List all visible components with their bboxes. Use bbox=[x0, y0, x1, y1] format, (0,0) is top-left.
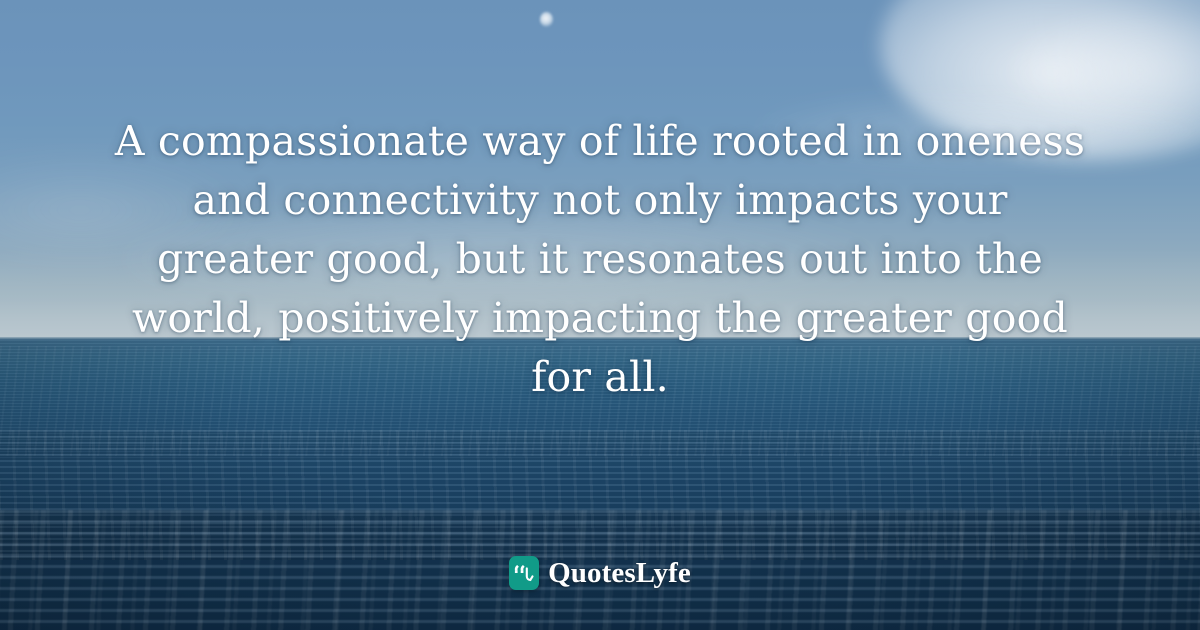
quote-text: A compassionate way of life rooted in on… bbox=[0, 112, 1200, 407]
quote-line: greater good, but it resonates out into … bbox=[80, 230, 1120, 289]
quote-mark-icon bbox=[509, 556, 539, 590]
brand-name: QuotesLyfe bbox=[548, 559, 691, 588]
quote-line: A compassionate way of life rooted in on… bbox=[80, 112, 1120, 171]
quote-line: and connectivity not only impacts your bbox=[80, 171, 1120, 230]
quote-line: for all. bbox=[80, 348, 1120, 407]
quote-card: A compassionate way of life rooted in on… bbox=[0, 0, 1200, 630]
moon-icon bbox=[540, 12, 553, 27]
quote-line: world, positively impacting the greater … bbox=[80, 289, 1120, 348]
brand-logo[interactable]: QuotesLyfe bbox=[0, 556, 1200, 590]
